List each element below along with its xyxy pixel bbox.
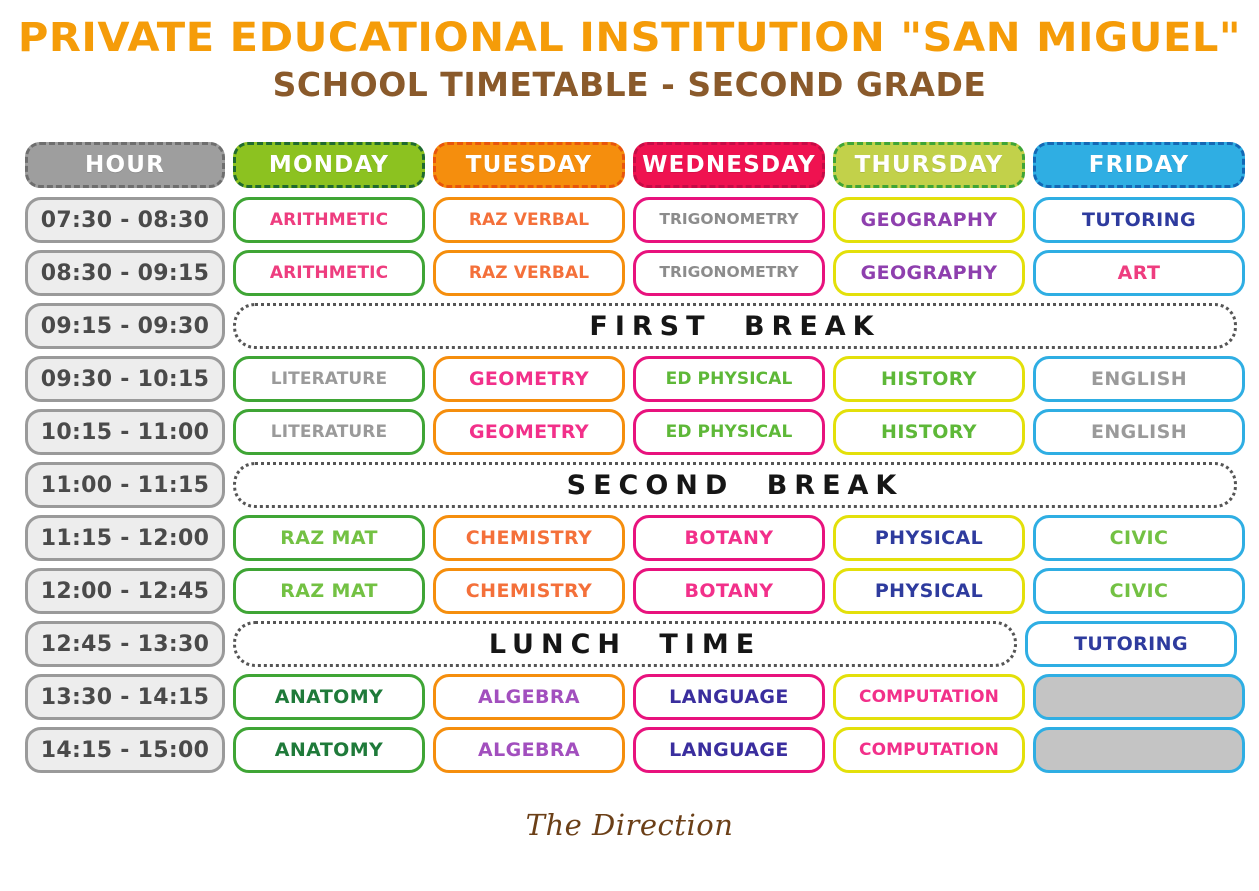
subject-cell-thursday[interactable]: GEOGRAPHY — [833, 250, 1025, 296]
subject-cell-monday[interactable]: RAZ MAT — [233, 568, 425, 614]
subject-cell-tuesday[interactable]: GEOMETRY — [433, 356, 625, 402]
column-header-friday: FRIDAY — [1033, 142, 1245, 188]
empty-cell-friday[interactable] — [1033, 727, 1245, 773]
subject-cell-wednesday[interactable]: ED PHYSICAL — [633, 356, 825, 402]
subject-cell-thursday[interactable]: GEOGRAPHY — [833, 197, 1025, 243]
column-header-hour: HOUR — [25, 142, 225, 188]
timetable-row: 14:15 - 15:00ANATOMYALGEBRALANGUAGECOMPU… — [25, 727, 1237, 773]
timetable-row: 11:00 - 11:15SECOND BREAK — [25, 462, 1237, 508]
column-header-tuesday: TUESDAY — [433, 142, 625, 188]
timetable-row: 08:30 - 09:15ARITHMETICRAZ VERBALTRIGONO… — [25, 250, 1237, 296]
subject-cell-tuesday[interactable]: CHEMISTRY — [433, 515, 625, 561]
timetable-row: 10:15 - 11:00LITERATUREGEOMETRYED PHYSIC… — [25, 409, 1237, 455]
empty-cell-friday[interactable] — [1033, 674, 1245, 720]
subject-cell-monday[interactable]: ANATOMY — [233, 674, 425, 720]
timetable-page: PRIVATE EDUCATIONAL INSTITUTION "SAN MIG… — [0, 0, 1259, 891]
time-slot: 09:30 - 10:15 — [25, 356, 225, 402]
column-header-thursday: THURSDAY — [833, 142, 1025, 188]
subject-cell-thursday[interactable]: HISTORY — [833, 356, 1025, 402]
subject-cell-wednesday[interactable]: TRIGONOMETRY — [633, 250, 825, 296]
subject-cell-friday[interactable]: ART — [1033, 250, 1245, 296]
time-slot: 07:30 - 08:30 — [25, 197, 225, 243]
header-row: HOURMONDAYTUESDAYWEDNESDAYTHURSDAYFRIDAY — [25, 142, 1237, 188]
subject-cell-monday[interactable]: RAZ MAT — [233, 515, 425, 561]
break-banner: FIRST BREAK — [233, 303, 1237, 349]
time-slot: 09:15 - 09:30 — [25, 303, 225, 349]
timetable-row: 12:00 - 12:45RAZ MATCHEMISTRYBOTANYPHYSI… — [25, 568, 1237, 614]
institution-title: PRIVATE EDUCATIONAL INSTITUTION "SAN MIG… — [0, 16, 1259, 61]
subject-cell-friday[interactable]: CIVIC — [1033, 515, 1245, 561]
timetable-row: 09:30 - 10:15LITERATUREGEOMETRYED PHYSIC… — [25, 356, 1237, 402]
subject-cell-thursday[interactable]: COMPUTATION — [833, 727, 1025, 773]
time-slot: 13:30 - 14:15 — [25, 674, 225, 720]
timetable-row: 12:45 - 13:30LUNCH TIMETUTORING — [25, 621, 1237, 667]
subject-cell-tuesday[interactable]: ALGEBRA — [433, 727, 625, 773]
subject-cell-tuesday[interactable]: CHEMISTRY — [433, 568, 625, 614]
subject-cell-wednesday[interactable]: BOTANY — [633, 515, 825, 561]
subject-cell-monday[interactable]: ARITHMETIC — [233, 250, 425, 296]
signature: The Direction — [0, 808, 1259, 842]
time-slot: 08:30 - 09:15 — [25, 250, 225, 296]
subject-cell-monday[interactable]: ANATOMY — [233, 727, 425, 773]
timetable-row: 09:15 - 09:30FIRST BREAK — [25, 303, 1237, 349]
subject-cell-monday[interactable]: LITERATURE — [233, 356, 425, 402]
time-slot: 12:45 - 13:30 — [25, 621, 225, 667]
subject-cell-friday[interactable]: ENGLISH — [1033, 356, 1245, 402]
timetable-grid: HOURMONDAYTUESDAYWEDNESDAYTHURSDAYFRIDAY… — [25, 142, 1237, 780]
timetable-subtitle: SCHOOL TIMETABLE - SECOND GRADE — [0, 65, 1259, 105]
timetable-row: 11:15 - 12:00RAZ MATCHEMISTRYBOTANYPHYSI… — [25, 515, 1237, 561]
subject-cell-monday[interactable]: LITERATURE — [233, 409, 425, 455]
subject-cell-tuesday[interactable]: RAZ VERBAL — [433, 250, 625, 296]
column-header-wednesday: WEDNESDAY — [633, 142, 825, 188]
time-slot: 10:15 - 11:00 — [25, 409, 225, 455]
subject-cell-friday[interactable]: ENGLISH — [1033, 409, 1245, 455]
timetable-row: 13:30 - 14:15ANATOMYALGEBRALANGUAGECOMPU… — [25, 674, 1237, 720]
subject-cell-thursday[interactable]: PHYSICAL — [833, 515, 1025, 561]
time-slot: 14:15 - 15:00 — [25, 727, 225, 773]
time-slot: 11:00 - 11:15 — [25, 462, 225, 508]
lunch-banner: LUNCH TIME — [233, 621, 1017, 667]
subject-cell-wednesday[interactable]: ED PHYSICAL — [633, 409, 825, 455]
subject-cell-friday[interactable]: TUTORING — [1025, 621, 1237, 667]
subject-cell-wednesday[interactable]: LANGUAGE — [633, 674, 825, 720]
subject-cell-tuesday[interactable]: RAZ VERBAL — [433, 197, 625, 243]
subject-cell-monday[interactable]: ARITHMETIC — [233, 197, 425, 243]
time-slot: 11:15 - 12:00 — [25, 515, 225, 561]
subject-cell-friday[interactable]: TUTORING — [1033, 197, 1245, 243]
subject-cell-wednesday[interactable]: TRIGONOMETRY — [633, 197, 825, 243]
subject-cell-tuesday[interactable]: GEOMETRY — [433, 409, 625, 455]
subject-cell-wednesday[interactable]: BOTANY — [633, 568, 825, 614]
subject-cell-friday[interactable]: CIVIC — [1033, 568, 1245, 614]
subject-cell-thursday[interactable]: HISTORY — [833, 409, 1025, 455]
column-header-monday: MONDAY — [233, 142, 425, 188]
title-block: PRIVATE EDUCATIONAL INSTITUTION "SAN MIG… — [0, 0, 1259, 104]
subject-cell-thursday[interactable]: COMPUTATION — [833, 674, 1025, 720]
subject-cell-thursday[interactable]: PHYSICAL — [833, 568, 1025, 614]
time-slot: 12:00 - 12:45 — [25, 568, 225, 614]
break-banner: SECOND BREAK — [233, 462, 1237, 508]
timetable-row: 07:30 - 08:30ARITHMETICRAZ VERBALTRIGONO… — [25, 197, 1237, 243]
subject-cell-tuesday[interactable]: ALGEBRA — [433, 674, 625, 720]
subject-cell-wednesday[interactable]: LANGUAGE — [633, 727, 825, 773]
